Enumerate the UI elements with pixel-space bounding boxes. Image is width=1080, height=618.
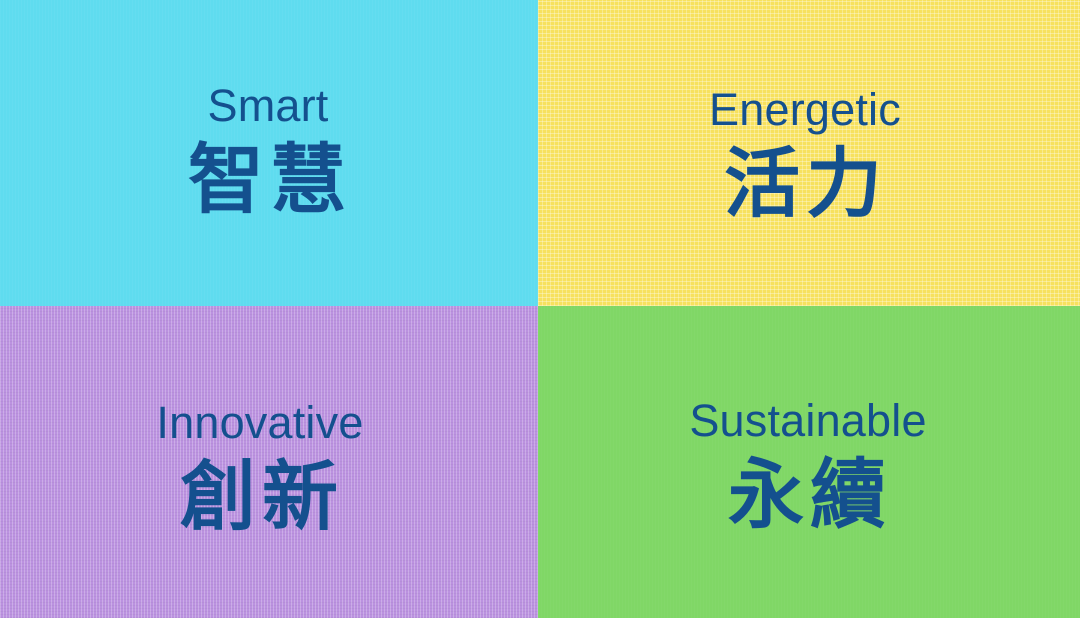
sustainable-text-stack: Sustainable 永續 xyxy=(687,398,926,534)
innovative-label-english: Innovative xyxy=(156,400,363,445)
brand-values-poster: Smart 智慧 Energetic 活力 Innovative 創新 Sust… xyxy=(0,0,1080,618)
quadrant-sustainable: Sustainable 永續 xyxy=(538,306,1080,618)
energetic-label-english: Energetic xyxy=(709,87,901,132)
smart-text-stack: Smart 智慧 xyxy=(182,83,352,219)
energetic-label-chinese: 活力 xyxy=(718,144,888,223)
innovative-text-stack: Innovative 創新 xyxy=(154,400,363,536)
innovative-label-chinese: 創新 xyxy=(174,457,344,536)
quadrant-smart: Smart 智慧 xyxy=(0,0,538,306)
quadrant-innovative: Innovative 創新 xyxy=(0,306,538,618)
sustainable-label-english: Sustainable xyxy=(689,398,926,443)
quadrant-energetic: Energetic 活力 xyxy=(538,0,1080,306)
smart-label-english: Smart xyxy=(207,83,328,128)
sustainable-label-chinese: 永續 xyxy=(722,455,892,534)
smart-label-chinese: 智慧 xyxy=(182,140,352,219)
energetic-text-stack: Energetic 活力 xyxy=(705,87,901,223)
